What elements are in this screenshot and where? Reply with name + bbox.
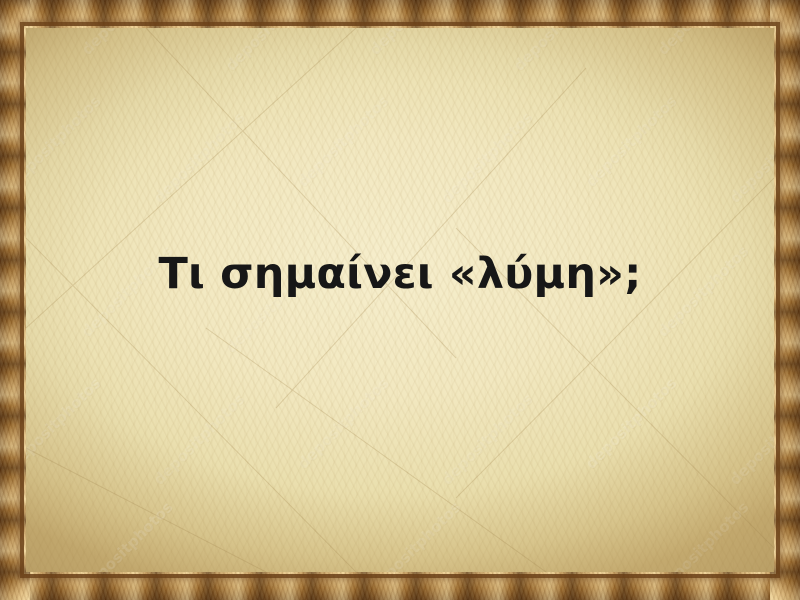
slide-title-area: Τι σημαίνει «λύμη»; bbox=[26, 252, 774, 297]
watermark-text: depositphotos bbox=[294, 92, 393, 191]
watermark-text: depositphotos bbox=[78, 498, 177, 572]
watermark-text: depositphotos bbox=[510, 28, 609, 75]
watermark-text: depositphotos bbox=[366, 28, 465, 59]
watermark-text: depositphotos bbox=[366, 498, 465, 572]
parchment-vignette bbox=[26, 28, 774, 572]
parchment-grain-texture bbox=[26, 28, 774, 572]
watermark-text: depositphotos bbox=[438, 108, 537, 207]
watermark-text: depositphotos bbox=[726, 108, 774, 207]
parchment-panel: depositphotosdepositphotosdepositphotosd… bbox=[26, 28, 774, 572]
watermark-layer: depositphotosdepositphotosdepositphotosd… bbox=[26, 28, 774, 572]
watermark-text: depositphotos bbox=[150, 390, 249, 489]
watermark-text: depositphotos bbox=[222, 28, 321, 75]
watermark-text: depositphotos bbox=[582, 92, 681, 191]
watermark-text: depositphotos bbox=[26, 92, 105, 191]
watermark-text: depositphotos bbox=[654, 498, 753, 572]
watermark-text: depositphotos bbox=[26, 374, 105, 473]
watermark-text: depositphotos bbox=[654, 28, 753, 59]
parchment-crease-lines bbox=[26, 28, 774, 572]
watermark-text: depositphotos bbox=[294, 374, 393, 473]
watermark-text: depositphotos bbox=[582, 374, 681, 473]
slide-canvas: depositphotosdepositphotosdepositphotosd… bbox=[0, 0, 800, 600]
watermark-text: depositphotos bbox=[150, 108, 249, 207]
watermark-text: depositphotos bbox=[78, 28, 177, 59]
slide-title: Τι σημαίνει «λύμη»; bbox=[158, 252, 641, 297]
watermark-text: depositphotos bbox=[438, 390, 537, 489]
watermark-text: depositphotos bbox=[726, 390, 774, 489]
